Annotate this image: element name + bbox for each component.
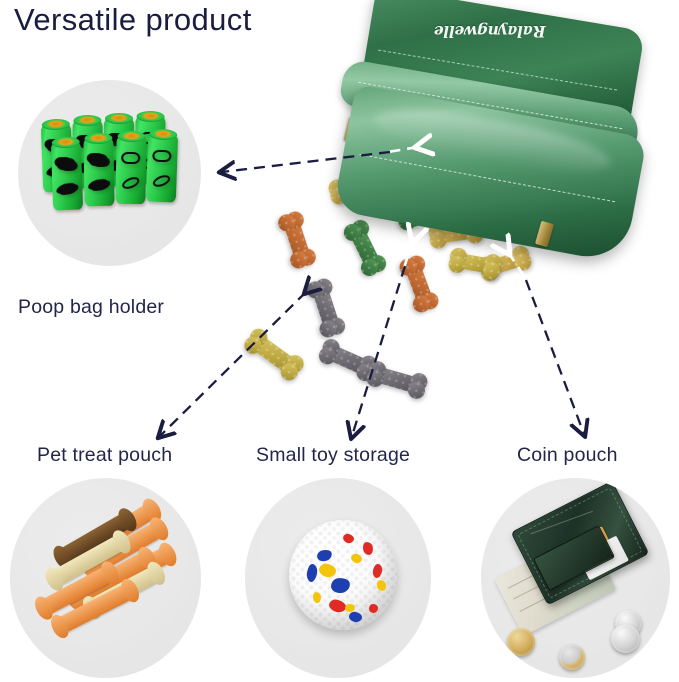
- product-pouch[interactable]: Ralayngwelle: [330, 6, 679, 296]
- pouch-brand-logo: Ralayngwelle: [434, 22, 546, 41]
